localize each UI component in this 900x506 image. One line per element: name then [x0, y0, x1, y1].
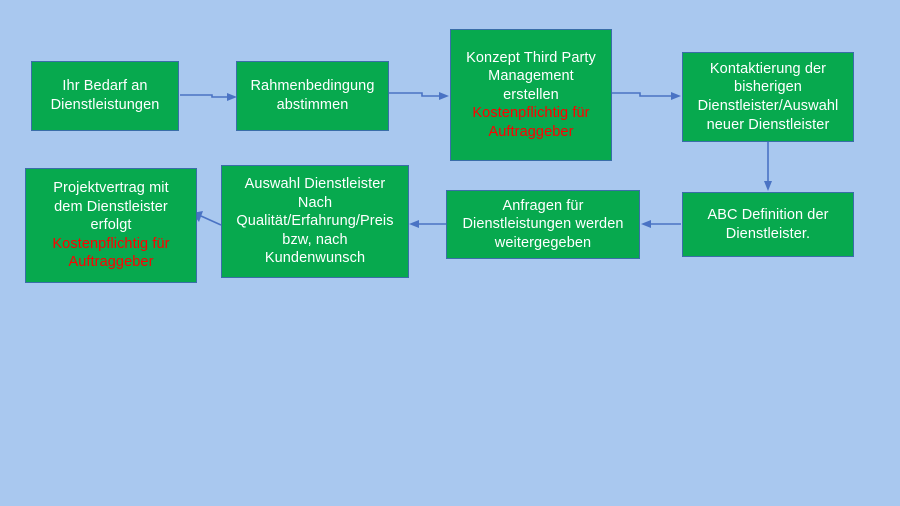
node-projektvertrag-cost-line-0: Kostenpflichtig für [52, 235, 169, 254]
node-projektvertrag[interactable]: Projektvertrag mit dem Dienstleister erf… [25, 168, 197, 283]
node-konzept-cost-line-0: Kostenpflichtig für [472, 104, 589, 123]
node-anfragen-line-1: Dienstleistungen werden [462, 215, 623, 234]
node-auswahl-line-1: Nach [298, 194, 332, 213]
node-auswahl-line-4: Kundenwunsch [265, 249, 365, 268]
node-auswahl-line-0: Auswahl Dienstleister [245, 175, 386, 194]
node-konzept[interactable]: Konzept Third Party Management erstellen… [450, 29, 612, 161]
node-kontaktierung-line-0: Kontaktierung der [710, 60, 826, 79]
node-projektvertrag-line-0: Projektvertrag mit [53, 179, 168, 198]
node-rahmenbedingung[interactable]: Rahmenbedingung abstimmen [236, 61, 389, 131]
arrow-bedarf-to-rahmenbedingung [180, 93, 237, 101]
node-auswahl[interactable]: Auswahl Dienstleister Nach Qualität/Erfa… [221, 165, 409, 278]
node-kontaktierung-line-3: neuer Dienstleister [707, 116, 830, 135]
node-anfragen[interactable]: Anfragen für Dienstleistungen werden wei… [446, 190, 640, 259]
node-konzept-line-2: erstellen [503, 86, 559, 105]
flowchart-canvas: Ihr Bedarf an Dienstleistungen Rahmenbed… [0, 0, 900, 506]
node-abc[interactable]: ABC Definition der Dienstleister. [682, 192, 854, 257]
node-anfragen-line-0: Anfragen für [503, 197, 584, 216]
node-konzept-cost-line-1: Auftraggeber [488, 123, 573, 142]
node-rahmenbedingung-line-0: Rahmenbedingung [250, 77, 374, 96]
node-auswahl-line-3: bzw, nach [282, 231, 347, 250]
arrow-kontaktierung-to-abc [764, 142, 772, 191]
node-projektvertrag-line-2: erfolgt [91, 216, 132, 235]
node-projektvertrag-line-1: dem Dienstleister [54, 198, 168, 217]
node-konzept-line-0: Konzept Third Party [466, 49, 596, 68]
node-abc-line-1: Dienstleister. [726, 225, 810, 244]
arrow-anfragen-to-auswahl [409, 220, 446, 228]
node-bedarf-line-0: Ihr Bedarf an [62, 77, 147, 96]
node-kontaktierung-line-2: Dienstleister/Auswahl [698, 97, 839, 116]
node-anfragen-line-2: weitergegeben [495, 234, 591, 253]
node-kontaktierung-line-1: bisherigen [734, 78, 802, 97]
node-projektvertrag-cost-line-1: Auftraggeber [68, 253, 153, 272]
node-bedarf[interactable]: Ihr Bedarf an Dienstleistungen [31, 61, 179, 131]
arrow-rahmenbedingung-to-konzept [389, 92, 449, 100]
node-rahmenbedingung-line-1: abstimmen [277, 96, 349, 115]
node-konzept-line-1: Management [488, 67, 574, 86]
node-auswahl-line-2: Qualität/Erfahrung/Preis [236, 212, 393, 231]
node-abc-line-0: ABC Definition der [707, 206, 828, 225]
node-kontaktierung[interactable]: Kontaktierung der bisherigen Dienstleist… [682, 52, 854, 142]
node-bedarf-line-1: Dienstleistungen [51, 96, 160, 115]
arrow-abc-to-anfragen [641, 220, 681, 228]
arrow-konzept-to-kontaktierung [612, 92, 681, 100]
